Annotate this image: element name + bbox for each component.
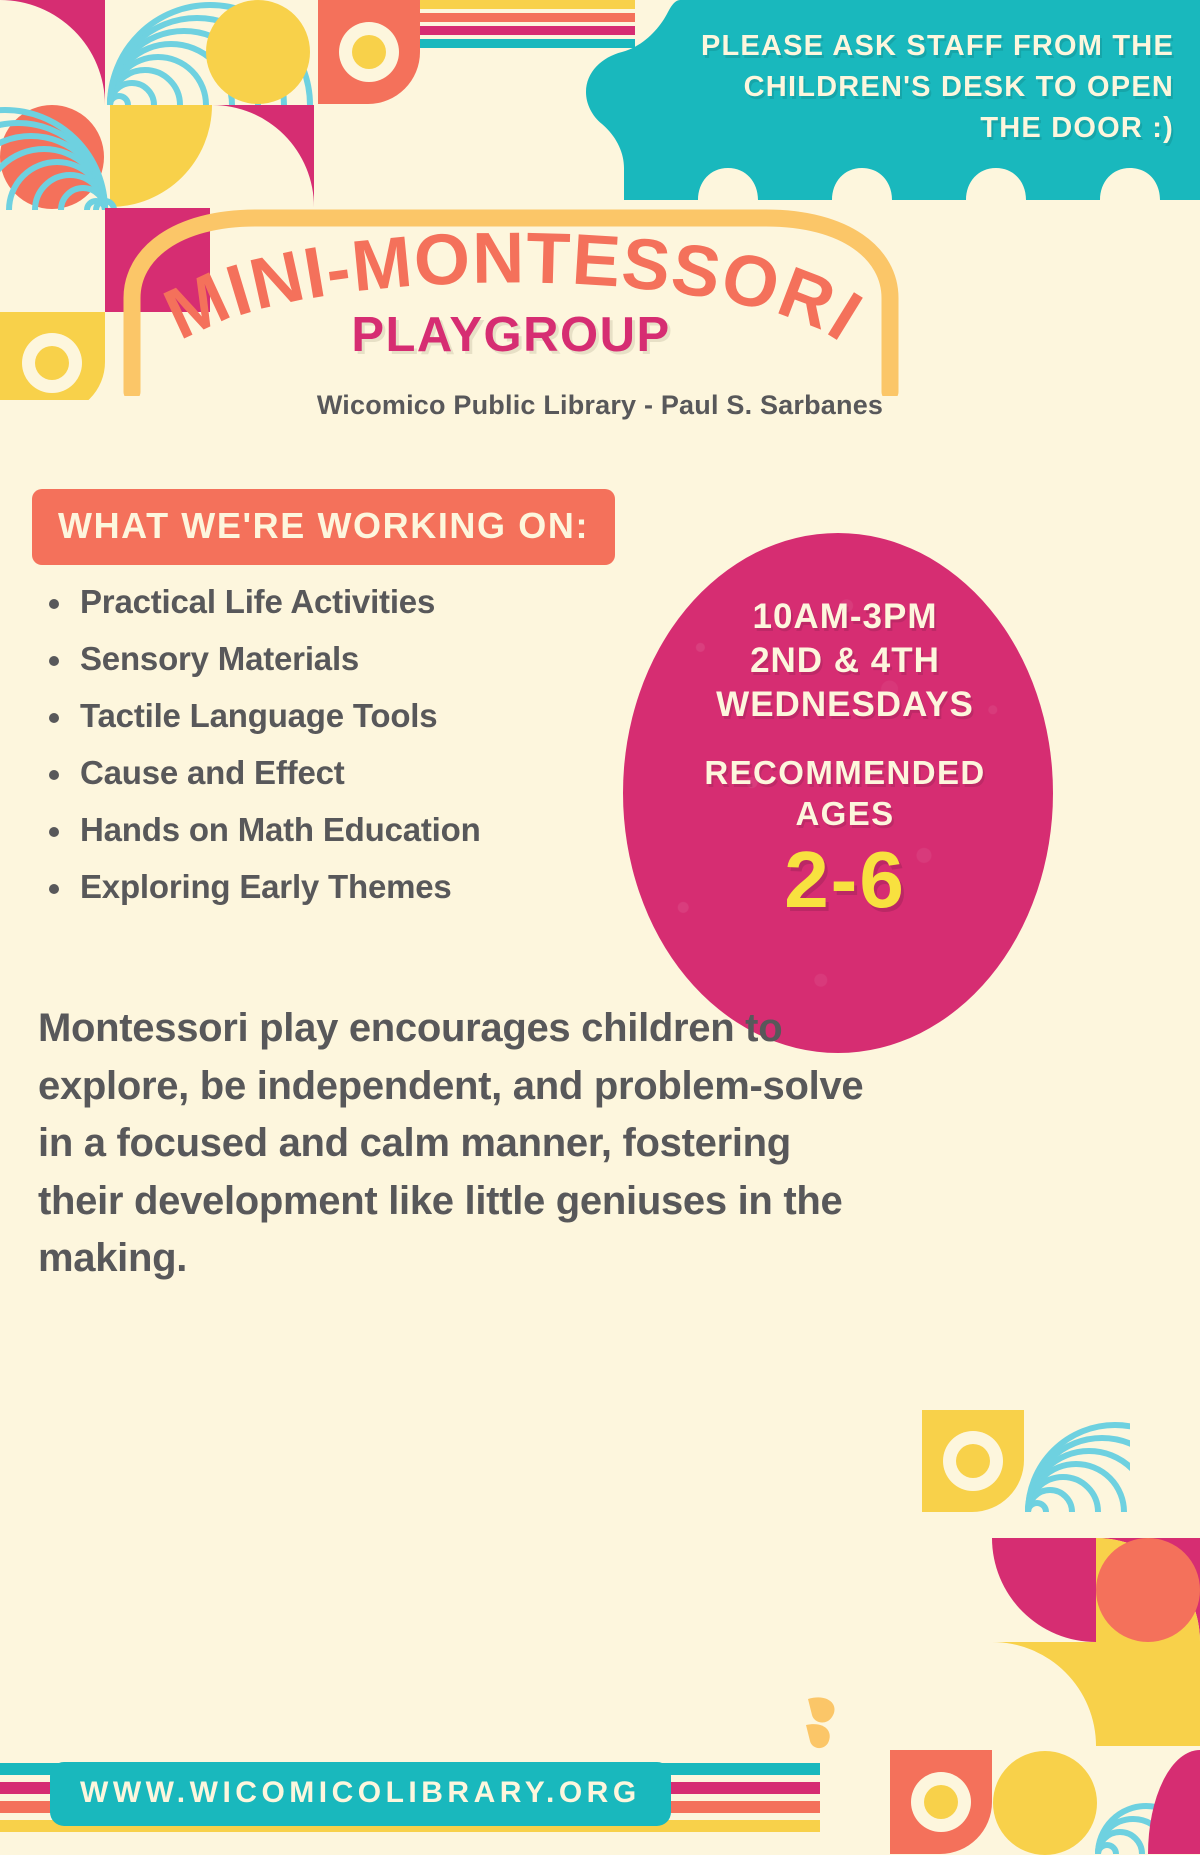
notice-line-2: CHILDREN'S DESK TO OPEN [580, 67, 1174, 108]
quarter-circle-icon [992, 1642, 1096, 1746]
notice-line-3: THE DOOR :) [580, 108, 1174, 149]
recommended-ages-value: 2-6 [655, 838, 1035, 922]
notice-line-1: PLEASE ASK STAFF FROM THE [580, 26, 1174, 67]
quarter-circle-icon [110, 105, 212, 207]
list-item: Tactile Language Tools [46, 687, 481, 744]
full-circle-icon [1096, 1538, 1200, 1642]
quarter-circle-icon [212, 105, 314, 207]
schedule-frequency-1: 2ND & 4TH [655, 639, 1035, 683]
quarter-circle-icon [0, 0, 105, 105]
venue-line: Wicomico Public Library - Paul S. Sarban… [0, 390, 1200, 421]
donut-inner-icon [352, 35, 386, 69]
notice-banner-text: PLEASE ASK STAFF FROM THE CHILDREN'S DES… [580, 0, 1200, 200]
section-heading: WHAT WE'RE WORKING ON: [32, 489, 615, 565]
donut-inner-icon [956, 1444, 990, 1478]
schedule-badge-text: 10AM-3PM 2ND & 4TH WEDNESDAYS RECOMMENDE… [655, 595, 1035, 922]
poster-title-sub: PLAYGROUP [116, 307, 906, 363]
full-circle-icon [993, 1751, 1097, 1855]
working-on-list: Practical Life Activities Sensory Materi… [46, 573, 481, 915]
list-item: Cause and Effect [46, 744, 481, 801]
schedule-frequency-2: WEDNESDAYS [655, 683, 1035, 727]
swirl-accent-icon [800, 1693, 842, 1753]
title-frame: MINI-MONTESSORI [116, 206, 906, 396]
quarter-circle-icon [992, 1538, 1096, 1642]
schedule-time: 10AM-3PM [655, 595, 1035, 639]
recommended-label-1: RECOMMENDED [655, 753, 1035, 793]
decoration-bottom-right [810, 1410, 1200, 1855]
recommended-label-2: AGES [655, 794, 1035, 834]
list-item: Sensory Materials [46, 630, 481, 687]
donut-inner-icon [35, 346, 69, 380]
full-circle-icon [206, 0, 310, 104]
spacer [655, 727, 1035, 753]
list-item: Exploring Early Themes [46, 858, 481, 915]
website-url-pill[interactable]: WWW.WICOMICOLIBRARY.ORG [50, 1762, 671, 1826]
description-paragraph: Montessori play encourages children to e… [38, 1000, 868, 1288]
title-plaque: MINI-MONTESSORI PLAYGROUP [116, 206, 906, 396]
donut-inner-icon [924, 1785, 958, 1819]
list-item: Hands on Math Education [46, 801, 481, 858]
list-item: Practical Life Activities [46, 573, 481, 630]
notice-banner: PLEASE ASK STAFF FROM THE CHILDREN'S DES… [580, 0, 1200, 200]
